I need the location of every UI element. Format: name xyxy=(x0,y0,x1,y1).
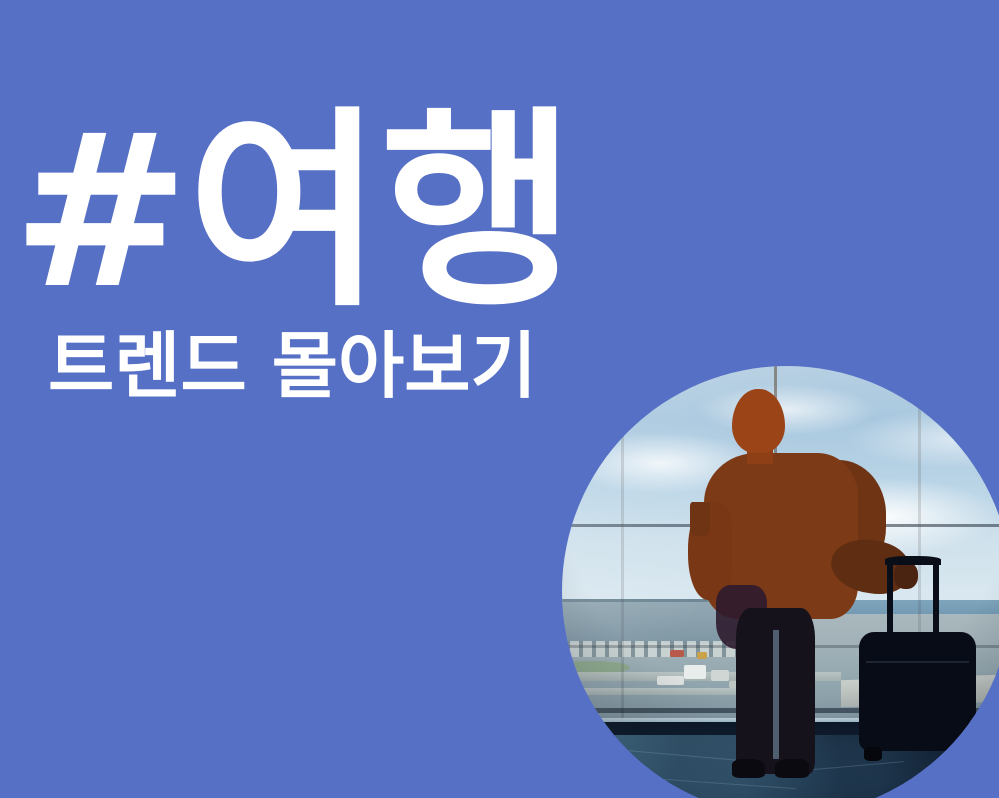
service-vehicle xyxy=(657,676,684,686)
traveler-shoe-right xyxy=(775,759,809,778)
traveler-silhouette xyxy=(688,389,886,767)
suitcase-handle-bar xyxy=(933,559,939,636)
traveler-shoe-left xyxy=(732,759,766,778)
service-vehicle xyxy=(670,650,684,656)
travel-trend-banner: #여행 트렌드 몰아보기 xyxy=(0,0,999,798)
rolling-suitcase xyxy=(859,605,976,758)
traveler-head xyxy=(732,389,785,453)
suitcase-body xyxy=(859,632,976,751)
suitcase-wheel xyxy=(864,747,883,761)
traveler-photo-circle xyxy=(562,366,999,798)
page-title: #여행 xyxy=(12,108,612,316)
suitcase-handle-bar xyxy=(887,559,893,636)
page-subtitle: 트렌드 몰아보기 xyxy=(48,330,612,402)
traveler-leg-gap xyxy=(773,630,779,759)
suitcase-wheel xyxy=(950,747,969,761)
suitcase-seam xyxy=(866,661,969,663)
coffee-cup-icon xyxy=(690,502,710,536)
traveler-hand xyxy=(894,562,918,588)
headline-block: #여행 트렌드 몰아보기 xyxy=(12,108,612,402)
photo-scene xyxy=(562,366,999,798)
